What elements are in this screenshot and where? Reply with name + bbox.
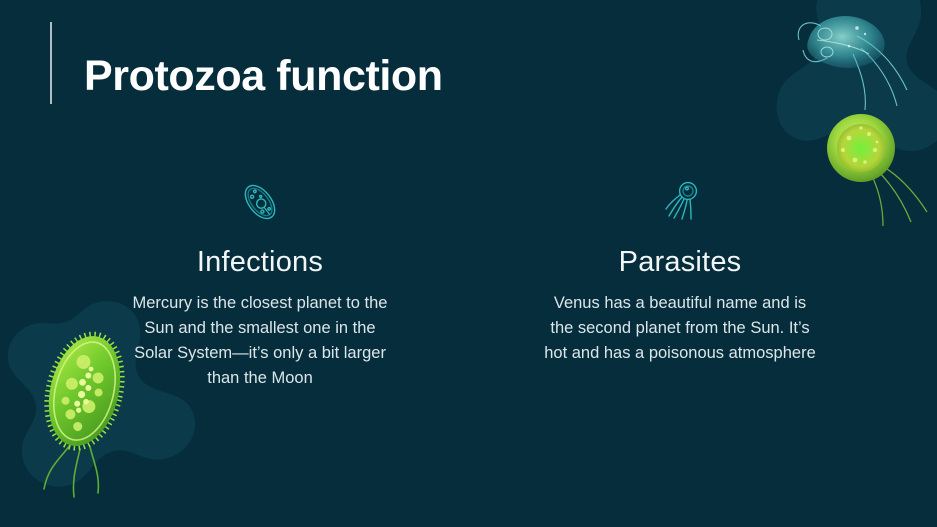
feature-column-parasites: Parasites Venus has a beautiful name and… — [530, 176, 830, 391]
feature-column-infections: Infections Mercury is the closest planet… — [110, 176, 410, 391]
feature-body-text: Mercury is the closest planet to the Sun… — [124, 291, 396, 391]
paramecium-icon — [110, 176, 410, 228]
feature-body-text: Venus has a beautiful name and is the se… — [544, 291, 816, 366]
slide-canvas: Protozoa function — [0, 0, 937, 527]
flagellate-icon — [530, 176, 830, 228]
feature-columns: Infections Mercury is the closest planet… — [110, 176, 830, 391]
title-accent-rule — [50, 22, 52, 104]
giardia-organism — [769, 0, 919, 131]
page-title: Protozoa function — [84, 52, 443, 101]
feature-heading: Parasites — [530, 246, 830, 279]
feature-heading: Infections — [110, 246, 410, 279]
